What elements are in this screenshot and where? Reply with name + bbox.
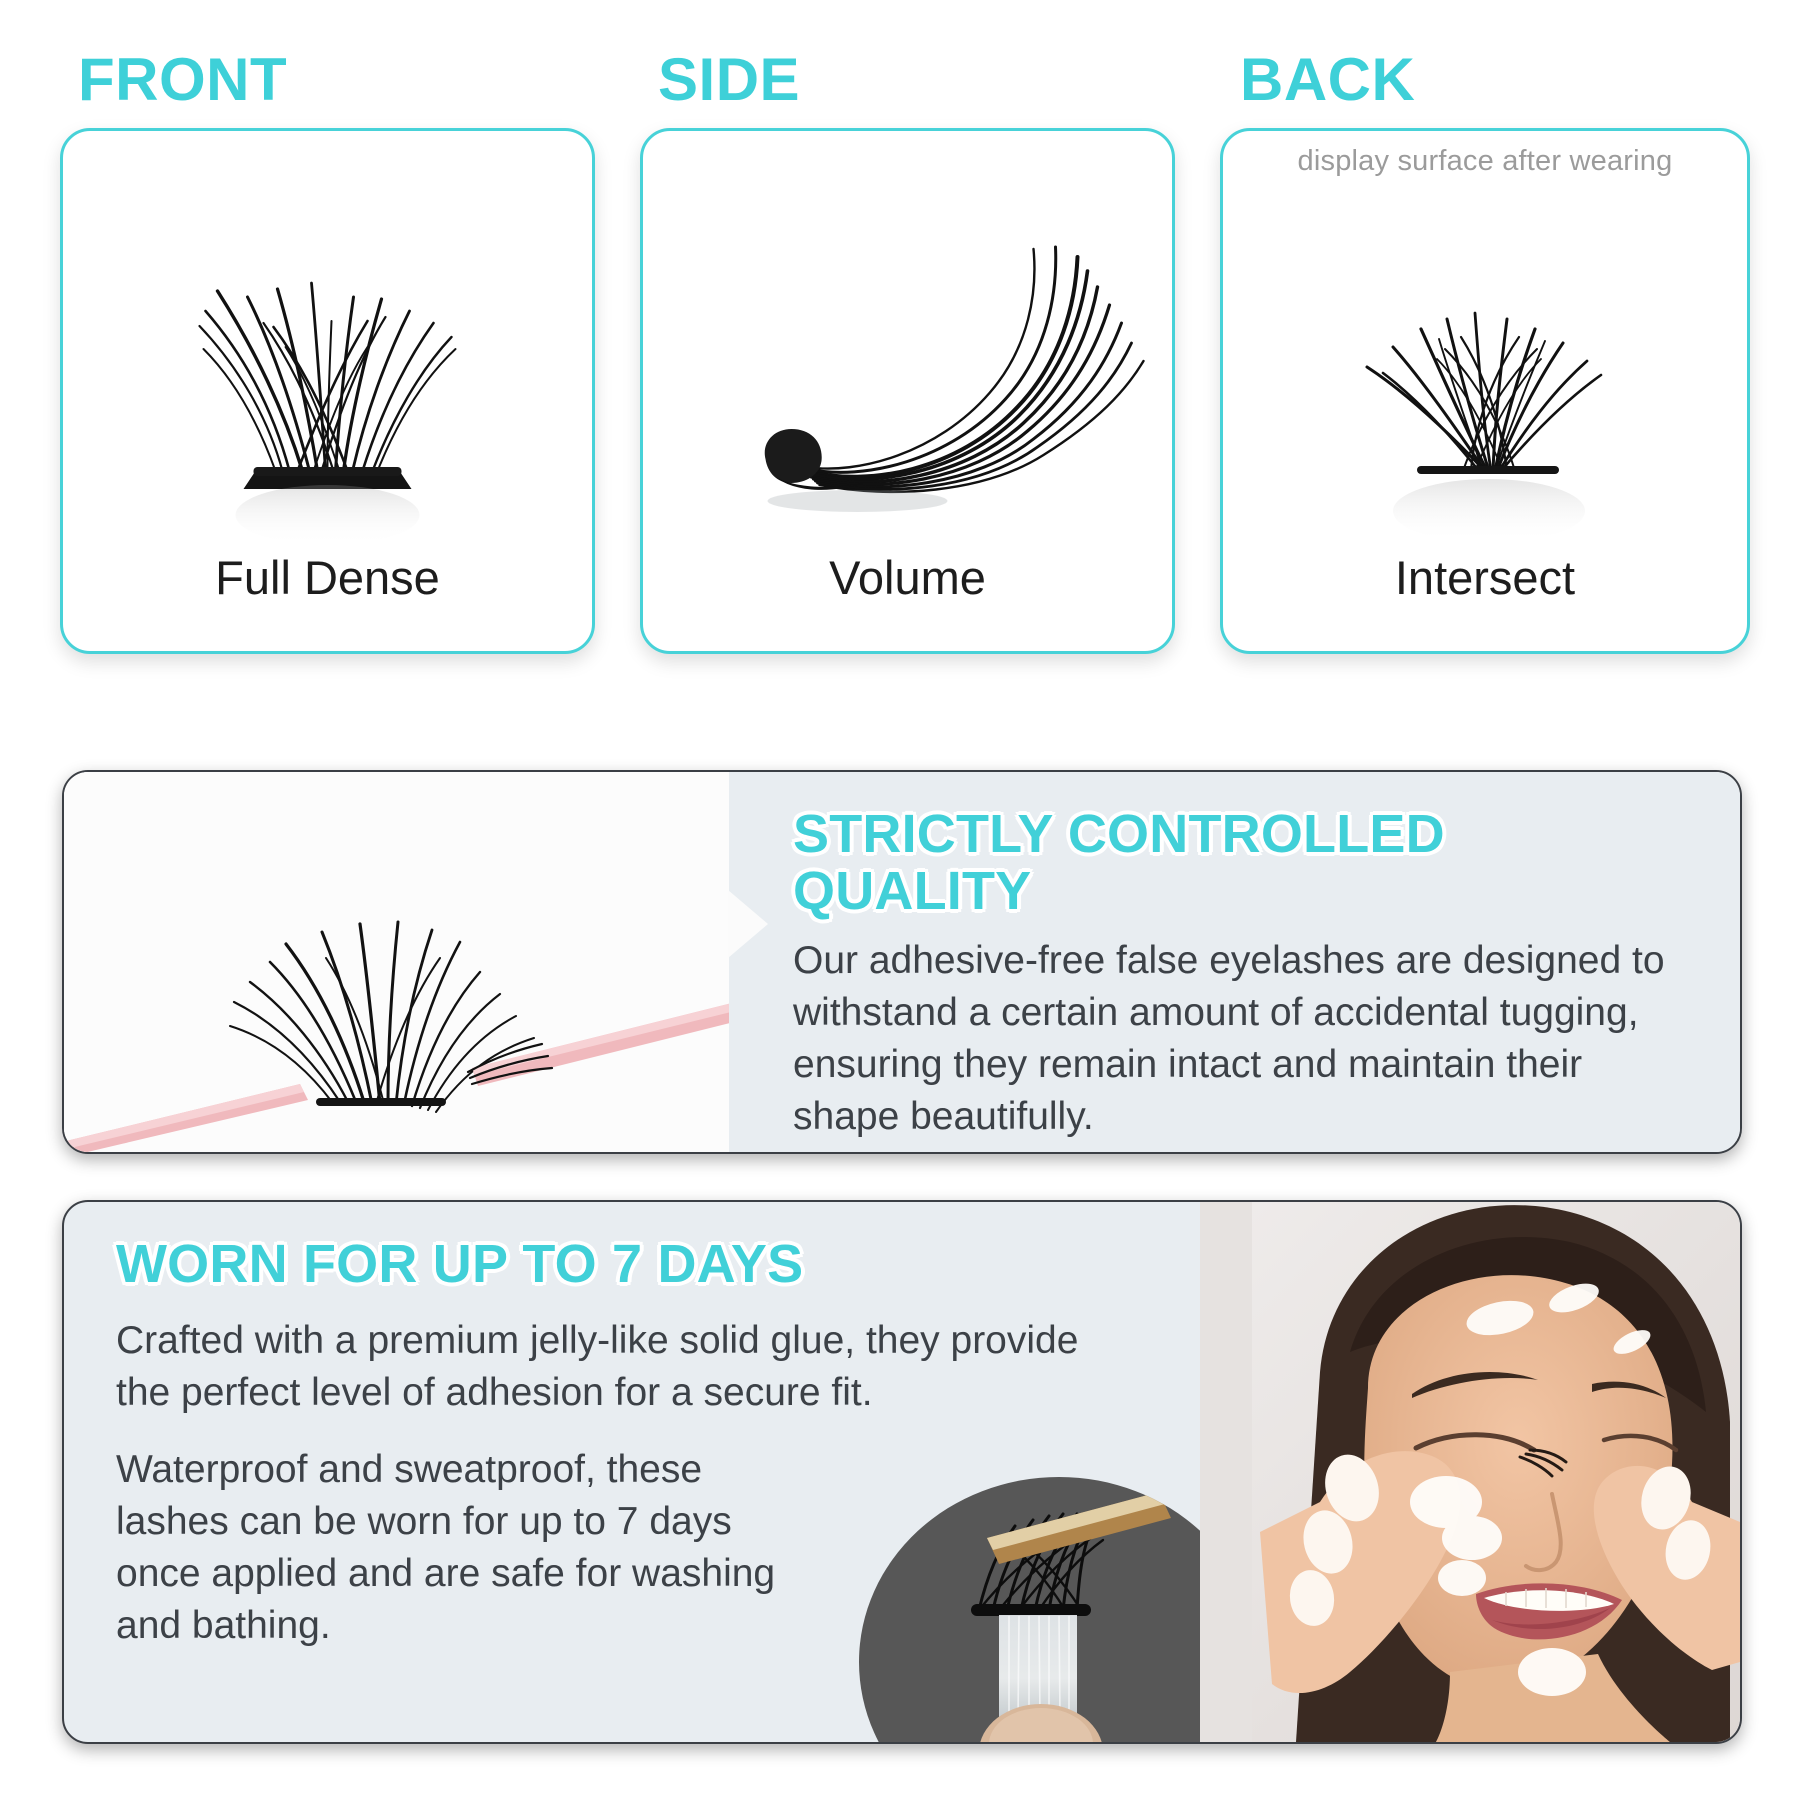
view-title-front: FRONT (60, 50, 595, 110)
lash-under-running-water-photo (859, 1452, 1259, 1744)
view-label-front: Full Dense (63, 550, 592, 605)
view-title-side: SIDE (640, 50, 1175, 110)
view-card-body-back: display surface after wearing (1220, 128, 1750, 654)
view-card-body-side: Volume (640, 128, 1175, 654)
view-title-back: BACK (1220, 50, 1750, 110)
view-card-back: BACK display surface after wearing (1220, 50, 1750, 710)
quality-heading: STRICTLY CONTROLLED QUALITY (793, 806, 1696, 919)
lash-views-row: FRONT (60, 50, 1750, 710)
days-paragraph-1: Crafted with a premium jelly-like solid … (116, 1315, 1126, 1419)
woman-washing-face-photo (1200, 1202, 1740, 1742)
days-heading: WORN FOR UP TO 7 DAYS (116, 1236, 1096, 1293)
quality-text-block: STRICTLY CONTROLLED QUALITY Our adhesive… (729, 772, 1740, 1152)
lash-back-icon (1223, 171, 1747, 541)
view-label-back: Intersect (1223, 550, 1747, 605)
tweezers-pulling-lash-photo (64, 772, 729, 1152)
days-paragraph-2: Waterproof and sweatproof, these lashes … (116, 1444, 776, 1651)
days-section: WORN FOR UP TO 7 DAYS Crafted with a pre… (62, 1200, 1742, 1744)
lash-front-icon (63, 171, 592, 541)
view-card-front: FRONT (60, 50, 595, 710)
quality-section: STRICTLY CONTROLLED QUALITY Our adhesive… (62, 770, 1742, 1154)
lash-side-icon (643, 171, 1172, 541)
view-card-body-front: Full Dense (60, 128, 595, 654)
view-label-side: Volume (643, 550, 1172, 605)
quality-body: Our adhesive-free false eyelashes are de… (793, 935, 1673, 1142)
view-card-side: SIDE (640, 50, 1175, 710)
speech-notch-icon (728, 890, 768, 958)
product-infographic: FRONT (0, 0, 1800, 1800)
